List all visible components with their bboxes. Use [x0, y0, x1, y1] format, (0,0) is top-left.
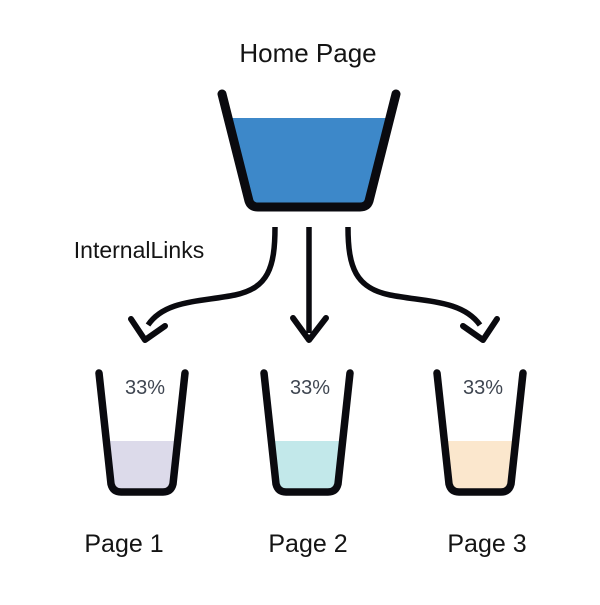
- home-page-title: Home Page: [239, 38, 376, 68]
- page-1-node[interactable]: 33% Page 1: [84, 373, 200, 558]
- page-1-percent: 33%: [125, 377, 165, 399]
- page-2-node[interactable]: 33% Page 2: [255, 373, 365, 558]
- page-3-label: Page 3: [447, 530, 526, 558]
- arrow-3-shaft: [348, 227, 480, 325]
- page-1-label: Page 1: [84, 530, 163, 558]
- page-2-percent: 33%: [290, 377, 330, 399]
- flow-diagram-canvas: Home Page InternalLinks: [0, 0, 600, 605]
- pagerank-flow-diagram: Home Page InternalLinks: [0, 0, 600, 605]
- internal-links-label: InternalLinks: [74, 237, 204, 263]
- home-page-node[interactable]: Home Page: [215, 38, 405, 210]
- arrow-to-page-3: [348, 227, 497, 340]
- arrow-to-page-2: [293, 227, 326, 340]
- page-2-label: Page 2: [268, 530, 347, 558]
- page-3-percent: 33%: [463, 377, 503, 399]
- page-3-node[interactable]: 33% Page 3: [428, 373, 538, 558]
